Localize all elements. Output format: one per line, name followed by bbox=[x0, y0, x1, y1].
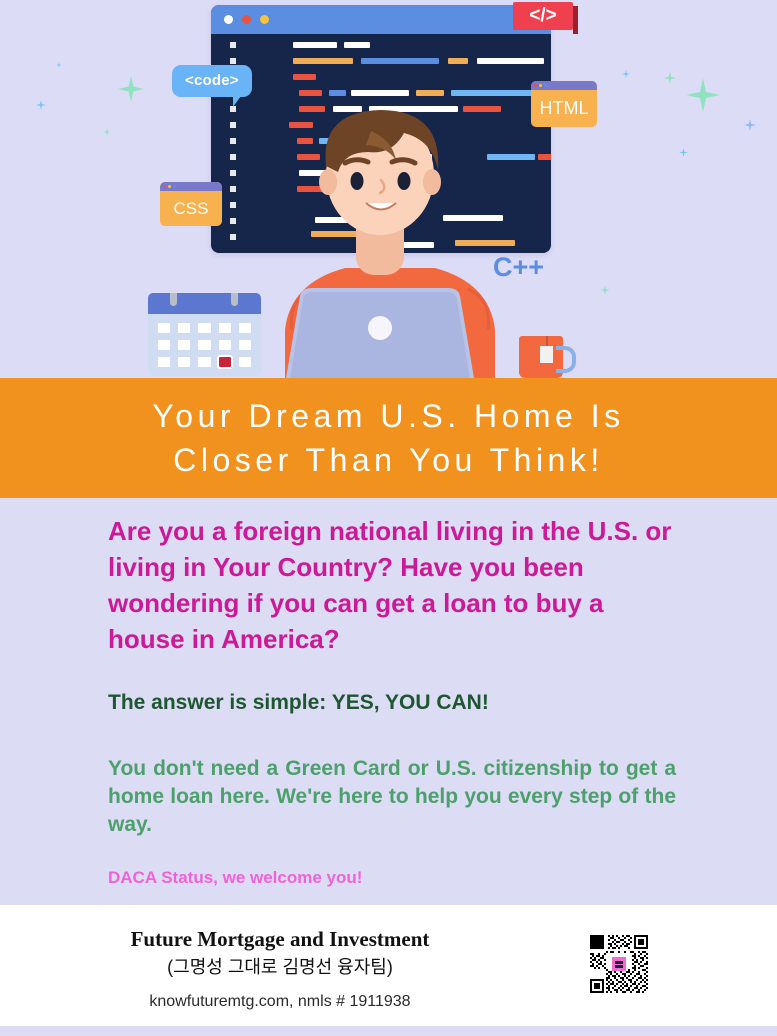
body-content: Are you a foreign national living in the… bbox=[0, 498, 777, 905]
answer-line: The answer is simple: YES, YOU CAN! bbox=[108, 691, 489, 715]
css-badge: CSS bbox=[160, 182, 222, 226]
company-name-korean: (그명성 그대로 김명선 융자팀) bbox=[0, 953, 560, 979]
html-badge: HTML bbox=[531, 81, 597, 127]
website-and-nmls: knowfuturemtg.com, nmls # 1911938 bbox=[0, 993, 560, 1011]
reassurance-paragraph: You don't need a Green Card or U.S. citi… bbox=[108, 755, 676, 839]
bottom-strip bbox=[0, 1026, 777, 1036]
coffee-mug-icon bbox=[519, 336, 563, 378]
css-badge-label: CSS bbox=[160, 191, 222, 226]
cpp-label: C++ bbox=[493, 252, 544, 283]
html-badge-titlebar bbox=[531, 81, 597, 90]
headline-line-1: Your Dream U.S. Home Is bbox=[152, 394, 624, 438]
daca-note: DACA Status, we welcome you! bbox=[108, 868, 362, 888]
html-badge-label: HTML bbox=[531, 90, 597, 127]
headline-line-2: Closer Than You Think! bbox=[173, 438, 603, 482]
footer: Future Mortgage and Investment (그명성 그대로 … bbox=[0, 905, 777, 1026]
calendar-icon bbox=[148, 293, 261, 376]
code-bubble-badge: <code> bbox=[172, 65, 252, 97]
calendar-days bbox=[148, 314, 261, 376]
company-name: Future Mortgage and Investment bbox=[0, 927, 560, 952]
calendar-marked-day bbox=[219, 357, 231, 367]
question-paragraph: Are you a foreign national living in the… bbox=[108, 513, 678, 657]
css-badge-titlebar bbox=[160, 182, 222, 191]
hero-illustration: <code> </> HTML CSS C++ bbox=[0, 0, 777, 378]
calendar-header bbox=[148, 293, 261, 314]
developer-character bbox=[0, 0, 777, 378]
headline-banner: Your Dream U.S. Home Is Closer Than You … bbox=[0, 378, 777, 498]
code-tag-badge: </> bbox=[513, 2, 573, 30]
qr-code[interactable] bbox=[588, 933, 650, 995]
poster: <code> </> HTML CSS C++ Your Dream U.S. … bbox=[0, 0, 777, 1036]
